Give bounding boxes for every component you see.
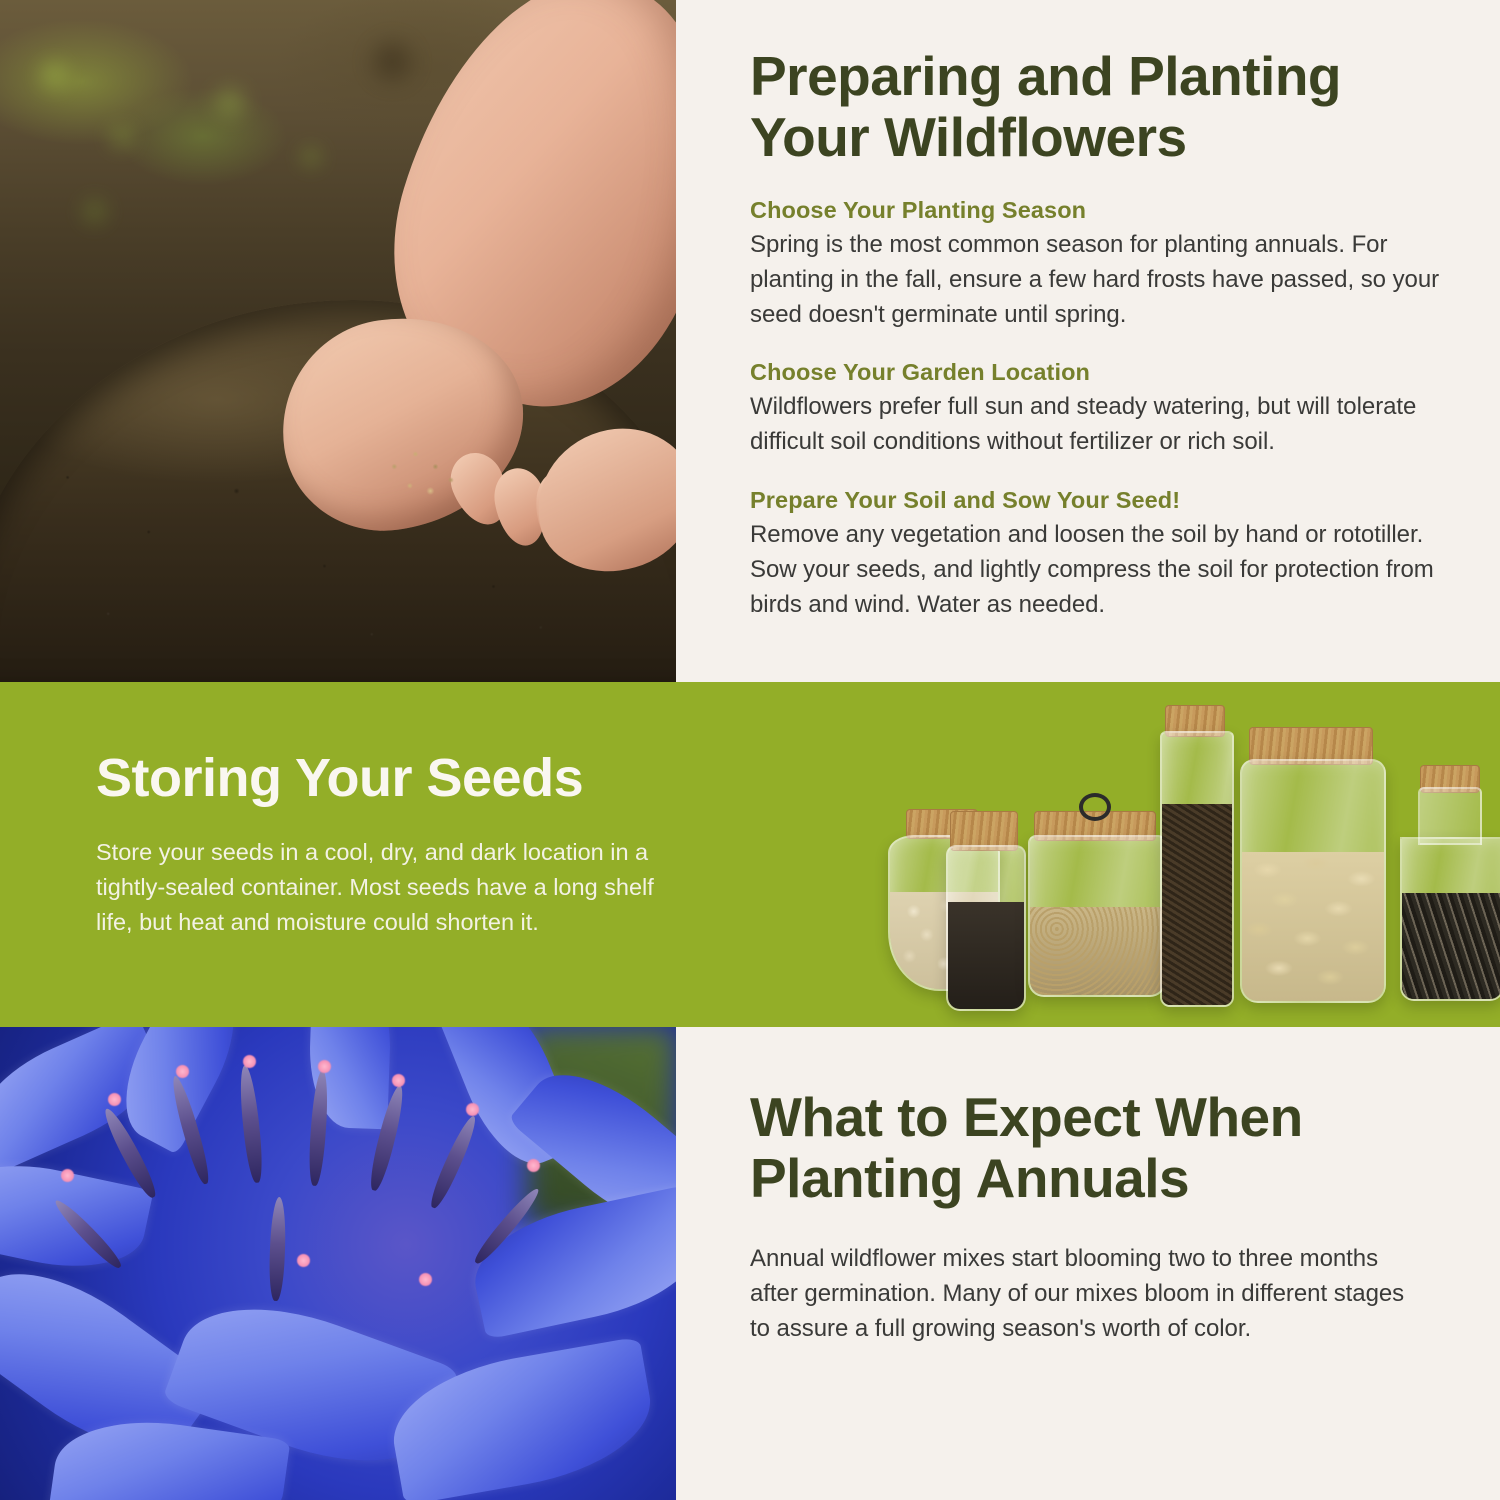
subheading-garden-location: Choose Your Garden Location xyxy=(750,359,1440,386)
seed-fill-icon xyxy=(1402,893,1500,999)
section-what-to-expect: What to Expect When Planting Annuals Ann… xyxy=(0,1027,1500,1500)
jar-pumpkin-seeds xyxy=(1240,759,1382,999)
stamen-icon xyxy=(237,1064,265,1183)
lid-knob-icon xyxy=(1079,793,1111,821)
seed-fill-icon xyxy=(1030,907,1164,995)
glass-body-icon xyxy=(1400,837,1500,1001)
body-garden-location: Wildflowers prefer full sun and steady w… xyxy=(750,390,1440,460)
seed-fill-icon xyxy=(1242,852,1384,1001)
subheading-prepare-soil: Prepare Your Soil and Sow Your Seed! xyxy=(750,487,1440,514)
expect-title: What to Expect When Planting Annuals xyxy=(750,1087,1430,1208)
body-prepare-soil: Remove any vegetation and loosen the soi… xyxy=(750,518,1440,622)
storing-body: Store your seeds in a cool, dry, and dar… xyxy=(96,835,690,941)
cornflower-icon xyxy=(0,1027,676,1500)
stamen-tip-icon xyxy=(392,1074,405,1087)
stamen-tip-icon xyxy=(419,1273,432,1286)
seed-fill-icon xyxy=(948,902,1024,1009)
planting-copy: Preparing and Planting Your Wildflowers … xyxy=(676,0,1500,682)
glass-body-icon xyxy=(1028,835,1166,997)
glass-body-icon xyxy=(1160,731,1234,1007)
planting-block-soil: Prepare Your Soil and Sow Your Seed! Rem… xyxy=(750,487,1440,622)
glass-body-icon xyxy=(946,845,1026,1011)
storing-copy: Storing Your Seeds Store your seeds in a… xyxy=(0,682,690,1027)
stamen-tip-icon xyxy=(318,1060,331,1073)
jar-tall-dark-seeds xyxy=(1160,731,1230,1003)
stamen-icon xyxy=(426,1113,480,1210)
section-storing-your-seeds: Storing Your Seeds Store your seeds in a… xyxy=(0,682,1500,1027)
expect-body: Annual wildflower mixes start blooming t… xyxy=(750,1242,1430,1346)
stamen-tip-icon xyxy=(176,1065,189,1078)
jar-sunflower-seeds xyxy=(1400,787,1500,997)
stamen-icon xyxy=(269,1197,288,1301)
planting-block-location: Choose Your Garden Location Wildflowers … xyxy=(750,359,1440,460)
photo-seed-jars xyxy=(860,682,1500,1027)
infographic-page: Preparing and Planting Your Wildflowers … xyxy=(0,0,1500,1500)
jar-black-seeds xyxy=(946,845,1022,1007)
subheading-planting-season: Choose Your Planting Season xyxy=(750,197,1440,224)
jar-tan-granules xyxy=(1028,835,1162,993)
planting-title: Preparing and Planting Your Wildflowers xyxy=(750,46,1440,167)
stamen-icon xyxy=(307,1069,330,1186)
storing-title: Storing Your Seeds xyxy=(96,750,690,807)
photo-blue-cornflower xyxy=(0,1027,676,1500)
stamen-tip-icon xyxy=(297,1254,310,1267)
section-preparing-and-planting: Preparing and Planting Your Wildflowers … xyxy=(0,0,1500,682)
body-planting-season: Spring is the most common season for pla… xyxy=(750,228,1440,332)
photo-hands-sowing-seeds xyxy=(0,0,676,682)
seed-fill-icon xyxy=(1162,804,1232,1005)
stamen-tip-icon xyxy=(243,1055,256,1068)
expect-copy: What to Expect When Planting Annuals Ann… xyxy=(676,1027,1500,1500)
stamen-tip-icon xyxy=(61,1169,74,1182)
planting-block-season: Choose Your Planting Season Spring is th… xyxy=(750,197,1440,332)
glass-body-icon xyxy=(1240,759,1386,1003)
